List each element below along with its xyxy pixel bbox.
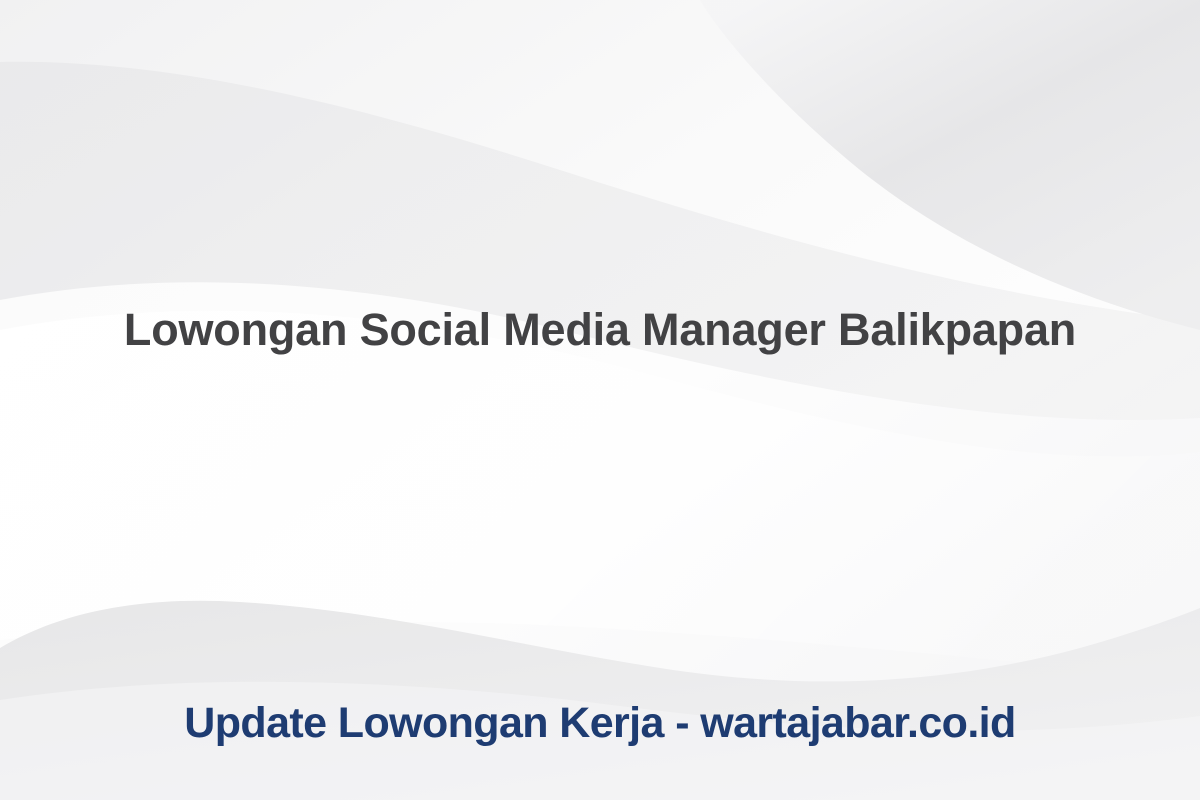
footer-container: Update Lowongan Kerja - wartajabar.co.id (0, 700, 1200, 780)
page-title: Lowongan Social Media Manager Balikpapan (64, 305, 1136, 355)
site-branding-text: Update Lowongan Kerja - wartajabar.co.id (144, 700, 1055, 747)
headline-container: Lowongan Social Media Manager Balikpapan (0, 0, 1200, 660)
banner-content: Lowongan Social Media Manager Balikpapan… (0, 0, 1200, 800)
promo-banner: Lowongan Social Media Manager Balikpapan… (0, 0, 1200, 800)
